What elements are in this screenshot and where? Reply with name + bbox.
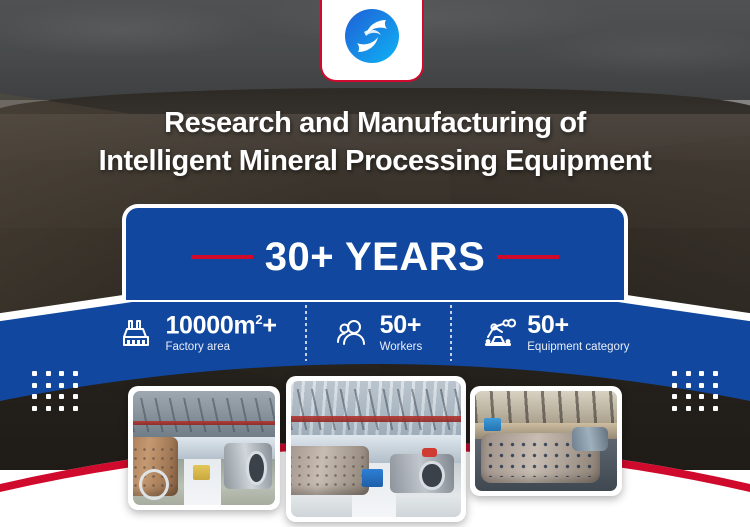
workshop-photo-right-thumb	[475, 391, 617, 491]
stat-equipment-category: 50+ Equipment category	[474, 313, 635, 354]
years-badge-text: 30+ YEARS	[265, 235, 486, 280]
dot	[699, 383, 704, 388]
stat-equipment-category-body: 50+ Equipment category	[527, 313, 629, 354]
stat-equipment-category-label: Equipment category	[527, 342, 629, 354]
stats-row: 10000m2+ Factory area 50+ Workers	[0, 300, 750, 366]
dot	[672, 406, 677, 411]
dot	[59, 383, 64, 388]
dot	[32, 406, 37, 411]
dot	[46, 406, 51, 411]
dot	[73, 394, 78, 399]
dot	[699, 406, 704, 411]
stat-divider-2	[450, 305, 452, 361]
stat-factory-area: 10000m2+ Factory area	[114, 313, 282, 354]
workshop-photo-left[interactable]	[128, 386, 280, 510]
stat-factory-area-suffix: +	[262, 311, 276, 339]
dot	[699, 371, 704, 376]
stat-factory-area-label: Factory area	[165, 342, 276, 354]
dot	[686, 383, 691, 388]
stat-workers: 50+ Workers	[329, 313, 429, 354]
scene-cable-coil	[139, 469, 169, 500]
dot	[672, 394, 677, 399]
stat-workers-label: Workers	[380, 342, 423, 354]
years-badge-inner: 30+ YEARS	[191, 235, 560, 280]
dot	[686, 394, 691, 399]
workshop-scene-center	[291, 381, 461, 517]
workshop-photo-center[interactable]	[286, 376, 466, 522]
headline-line-1: Research and Manufacturing of	[0, 104, 750, 142]
dot	[73, 406, 78, 411]
scene-machine-right	[224, 443, 272, 489]
dot	[672, 383, 677, 388]
stat-divider-1	[305, 305, 307, 361]
workshop-photo-right[interactable]	[470, 386, 622, 496]
headline-line-2: Intelligent Mineral Processing Equipment	[0, 142, 750, 180]
years-rule-right	[497, 255, 559, 259]
years-badge: 30+ YEARS	[122, 204, 628, 300]
scene-roof-beams	[133, 398, 275, 432]
headline-block: Research and Manufacturing of Intelligen…	[0, 104, 750, 181]
scene-machine-right	[572, 427, 609, 451]
dot	[672, 371, 677, 376]
dot	[59, 371, 64, 376]
workers-group-icon	[335, 315, 371, 351]
factory-icon	[120, 315, 156, 351]
workshop-photo-left-thumb	[133, 391, 275, 505]
dot	[32, 383, 37, 388]
scene-red-unit	[422, 448, 437, 458]
logo-badge[interactable]	[320, 0, 424, 82]
dot	[46, 394, 51, 399]
dot	[46, 371, 51, 376]
dot	[686, 406, 691, 411]
scene-red-beam	[133, 421, 275, 426]
dot-grid-left	[30, 370, 80, 412]
workshop-scene-right	[475, 391, 617, 491]
dot-grid-right	[670, 370, 720, 412]
stat-equipment-category-value: 50+	[527, 313, 629, 338]
robot-arm-icon	[480, 315, 518, 351]
stat-factory-area-value: 10000m2+	[165, 313, 276, 338]
workshop-photo-center-thumb	[291, 381, 461, 517]
scene-ball-mill-left	[291, 446, 369, 495]
stat-workers-body: 50+ Workers	[380, 313, 423, 354]
stat-workers-value: 50+	[380, 313, 423, 338]
years-rule-left	[191, 255, 253, 259]
scene-crate	[193, 465, 210, 480]
dot	[699, 394, 704, 399]
dot	[713, 406, 718, 411]
dot	[46, 383, 51, 388]
dot	[73, 371, 78, 376]
dot	[32, 371, 37, 376]
scene-red-beam	[291, 416, 461, 421]
swirl-circle-logo	[340, 4, 404, 68]
dot	[713, 371, 718, 376]
stat-factory-area-body: 10000m2+ Factory area	[165, 313, 276, 354]
scene-roof-beams	[291, 389, 461, 430]
stat-factory-area-number: 10000m	[165, 311, 255, 339]
dot	[713, 383, 718, 388]
workshop-scene-left	[133, 391, 275, 505]
scene-crate	[484, 418, 501, 431]
dot	[59, 406, 64, 411]
promo-banner: 30+ YEARS Research and Ma	[0, 0, 750, 527]
dot	[32, 394, 37, 399]
dot	[686, 371, 691, 376]
scene-ball-mill-right	[390, 454, 455, 492]
dot	[73, 383, 78, 388]
dot	[713, 394, 718, 399]
scene-crate	[362, 469, 382, 487]
dot	[59, 394, 64, 399]
